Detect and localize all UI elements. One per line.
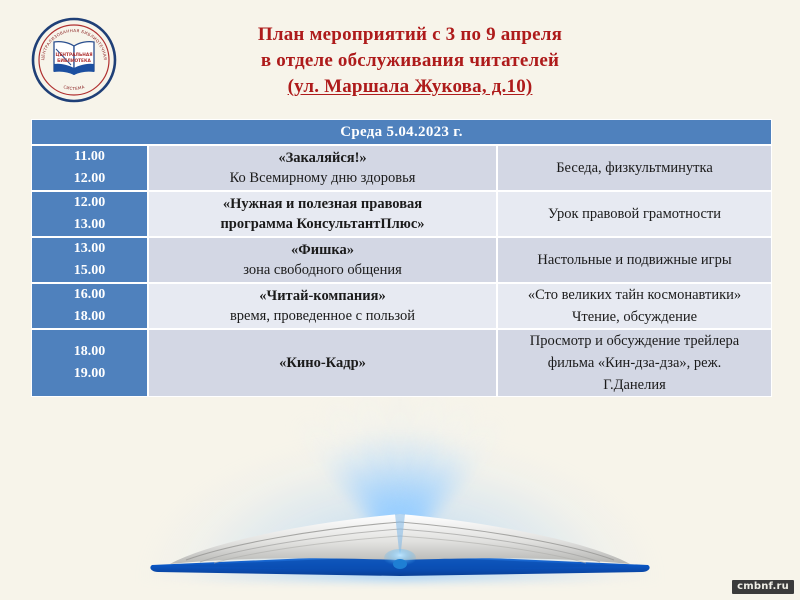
open-book-illustration xyxy=(100,472,700,592)
time-to: 18.00 xyxy=(32,306,147,328)
table-row: 12.00 13.00 «Нужная и полезная правовая … xyxy=(31,191,772,237)
event-subtitle: Ко Всемирному дню здоровья xyxy=(149,168,496,188)
event-subtitle: программа КонсультантПлюс» xyxy=(149,214,496,234)
event-description-line-1: Просмотр и обсуждение трейлера xyxy=(498,330,771,352)
table-row: 11.00 12.00 «Закаляйся!» Ко Всемирному д… xyxy=(31,145,772,191)
table-header-row: Среда 5.04.2023 г. xyxy=(31,119,772,145)
row-time-cell: 16.00 18.00 xyxy=(31,283,148,329)
title-line-3-address: (ул. Маршала Жукова, д.10) xyxy=(150,74,670,100)
table-row: 13.00 15.00 «Фишка» зона свободного обще… xyxy=(31,237,772,283)
time-from: 13.00 xyxy=(32,238,147,260)
glow-ray xyxy=(390,407,513,546)
event-name: «Нужная и полезная правовая xyxy=(149,194,496,214)
row-time-cell: 18.00 19.00 xyxy=(31,329,148,397)
event-description: Беседа, физкультминутка xyxy=(556,160,713,176)
title-line-1: План мероприятий с 3 по 9 апреля xyxy=(150,22,670,48)
page-title: План мероприятий с 3 по 9 апреля в отдел… xyxy=(150,22,670,100)
row-event-cell: «Нужная и полезная правовая программа Ко… xyxy=(148,191,497,237)
time-from: 11.00 xyxy=(32,146,147,168)
row-description-cell: Настольные и подвижные игры xyxy=(497,237,772,283)
time-from: 18.00 xyxy=(32,341,147,363)
row-description-cell: Беседа, физкультминутка xyxy=(497,145,772,191)
row-event-cell: «Кино-Кадр» xyxy=(148,329,497,397)
svg-text:ЦЕНТРАЛЬНАЯ: ЦЕНТРАЛЬНАЯ xyxy=(56,52,93,58)
event-description-line-1: «Сто великих тайн космонавтики» xyxy=(498,284,771,306)
time-from: 12.00 xyxy=(32,192,147,214)
table-row: 16.00 18.00 «Читай-компания» время, пров… xyxy=(31,283,772,329)
table-row: 18.00 19.00 «Кино-Кадр» Просмотр и обсуж… xyxy=(31,329,772,397)
library-logo: ЦЕНТРАЛИЗОВАННАЯ БИБЛИОТЕЧНАЯ СИСТЕМА ЦЕ… xyxy=(30,16,118,104)
event-name: «Кино-Кадр» xyxy=(149,353,496,373)
event-description-line-2: фильма «Кин-дза-дза», реж. xyxy=(498,352,771,374)
time-to: 15.00 xyxy=(32,260,147,282)
event-description-line-2: Чтение, обсуждение xyxy=(498,306,771,328)
glow-ray xyxy=(387,378,413,538)
time-to: 12.00 xyxy=(32,168,147,190)
site-watermark: cmbnf.ru xyxy=(732,580,794,594)
event-name: «Читай-компания» xyxy=(149,286,496,306)
row-description-cell: Урок правовой грамотности xyxy=(497,191,772,237)
event-name: «Закаляйся!» xyxy=(149,148,496,168)
row-description-cell: Просмотр и обсуждение трейлера фильма «К… xyxy=(497,329,772,397)
row-event-cell: «Закаляйся!» Ко Всемирному дню здоровья xyxy=(148,145,497,191)
event-description: Урок правовой грамотности xyxy=(548,206,721,222)
row-event-cell: «Читай-компания» время, проведенное с по… xyxy=(148,283,497,329)
schedule-table: Среда 5.04.2023 г. 11.00 12.00 «Закаляйс… xyxy=(31,119,772,397)
time-to: 19.00 xyxy=(32,363,147,385)
event-subtitle: зона свободного общения xyxy=(149,260,496,280)
event-name: «Фишка» xyxy=(149,240,496,260)
glow-ray xyxy=(287,407,410,546)
event-description: Настольные и подвижные игры xyxy=(537,252,731,268)
row-event-cell: «Фишка» зона свободного общения xyxy=(148,237,497,283)
row-description-cell: «Сто великих тайн космонавтики» Чтение, … xyxy=(497,283,772,329)
event-subtitle: время, проведенное с пользой xyxy=(149,306,496,326)
time-to: 13.00 xyxy=(32,214,147,236)
glow-ray xyxy=(349,380,413,542)
title-line-2: в отделе обслуживания читателей xyxy=(150,48,670,74)
time-from: 16.00 xyxy=(32,284,147,306)
glow-ray xyxy=(388,390,484,544)
row-time-cell: 11.00 12.00 xyxy=(31,145,148,191)
glow-ray xyxy=(316,390,412,544)
svg-text:БИБЛИОТЕКА: БИБЛИОТЕКА xyxy=(57,58,91,64)
row-time-cell: 12.00 13.00 xyxy=(31,191,148,237)
schedule-date-header: Среда 5.04.2023 г. xyxy=(31,119,772,145)
row-time-cell: 13.00 15.00 xyxy=(31,237,148,283)
glow-ray xyxy=(387,380,451,542)
event-description-line-3: Г.Данелия xyxy=(498,374,771,396)
